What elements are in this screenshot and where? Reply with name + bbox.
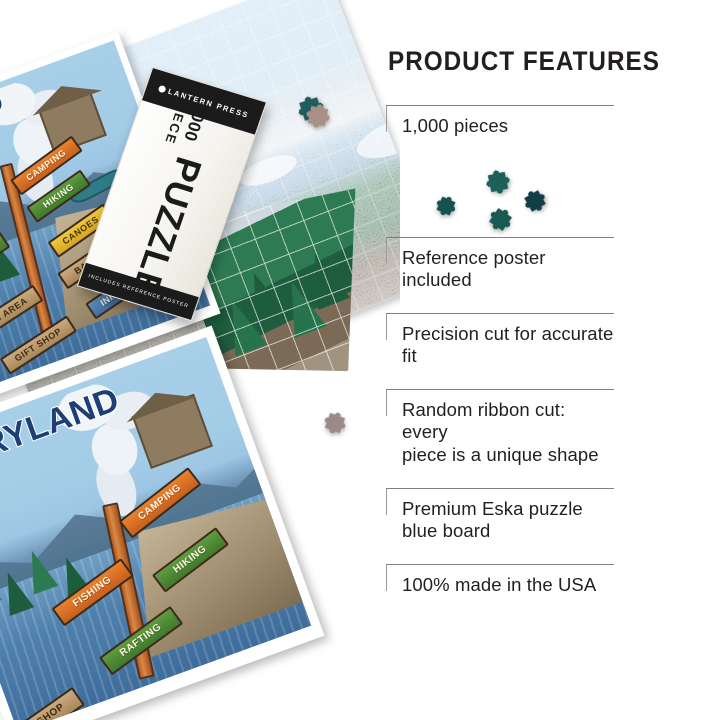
product-photo: CAMPING FISHING HIKING RAFTING CANOES PI… [0, 0, 400, 720]
feature-text: 100% made in the USA [402, 574, 614, 597]
sign-label: RAFTING [118, 621, 164, 658]
feature-text: Premium Eska puzzle blue board [402, 498, 614, 543]
sign-label: FISHING [71, 575, 114, 610]
sign-rafting: RAFTING [0, 232, 11, 289]
sign-label: CAMPING [25, 147, 69, 183]
sign-label: BAIT SHOP [11, 701, 66, 720]
feature-item: Premium Eska puzzle blue board [386, 488, 614, 552]
sign-bait-shop: BAIT SHOP [0, 687, 85, 720]
feature-text: Random ribbon cut: every piece is a uniq… [402, 399, 614, 467]
sign-label: PICNIC AREA [0, 295, 29, 339]
lantern-press-logo-icon [158, 84, 167, 93]
feature-text: Reference poster included [402, 247, 614, 292]
panel-title: PRODUCT FEATURES [388, 46, 656, 77]
sign-label: HIKING [41, 182, 75, 210]
poster-artwork: CAMPING FISHING HIKING RAFTING BAIT SHOP [0, 337, 311, 720]
feature-item: Random ribbon cut: every piece is a uniq… [386, 389, 614, 476]
puzzle-piece [304, 102, 332, 130]
feature-list: 1,000 piecesReference poster includedPre… [386, 105, 686, 605]
feature-item: 1,000 pieces [386, 105, 614, 147]
sign-label: CAMPING [137, 482, 184, 522]
product-feature-graphic: CAMPING FISHING HIKING RAFTING CANOES PI… [0, 0, 720, 720]
sign-label: GIFT SHOP [13, 326, 64, 364]
feature-item: Precision cut for accurate fit [386, 313, 614, 377]
signpost-bottom: CAMPING FISHING HIKING RAFTING BAIT SHOP [0, 337, 311, 720]
reference-poster-bottom: CAMPING FISHING HIKING RAFTING BAIT SHOP… [0, 326, 324, 720]
feature-text: 1,000 pieces [402, 115, 614, 138]
sign-camping: CAMPING [119, 467, 202, 539]
sign-label: HIKING [172, 544, 209, 576]
feature-text: Precision cut for accurate fit [402, 323, 614, 368]
sign-hiking: HIKING [152, 527, 229, 593]
feature-item: 100% made in the USA [386, 564, 614, 606]
feature-item: Reference poster included [386, 237, 614, 301]
product-features-panel: PRODUCT FEATURES 1,000 piecesReference p… [386, 46, 686, 605]
